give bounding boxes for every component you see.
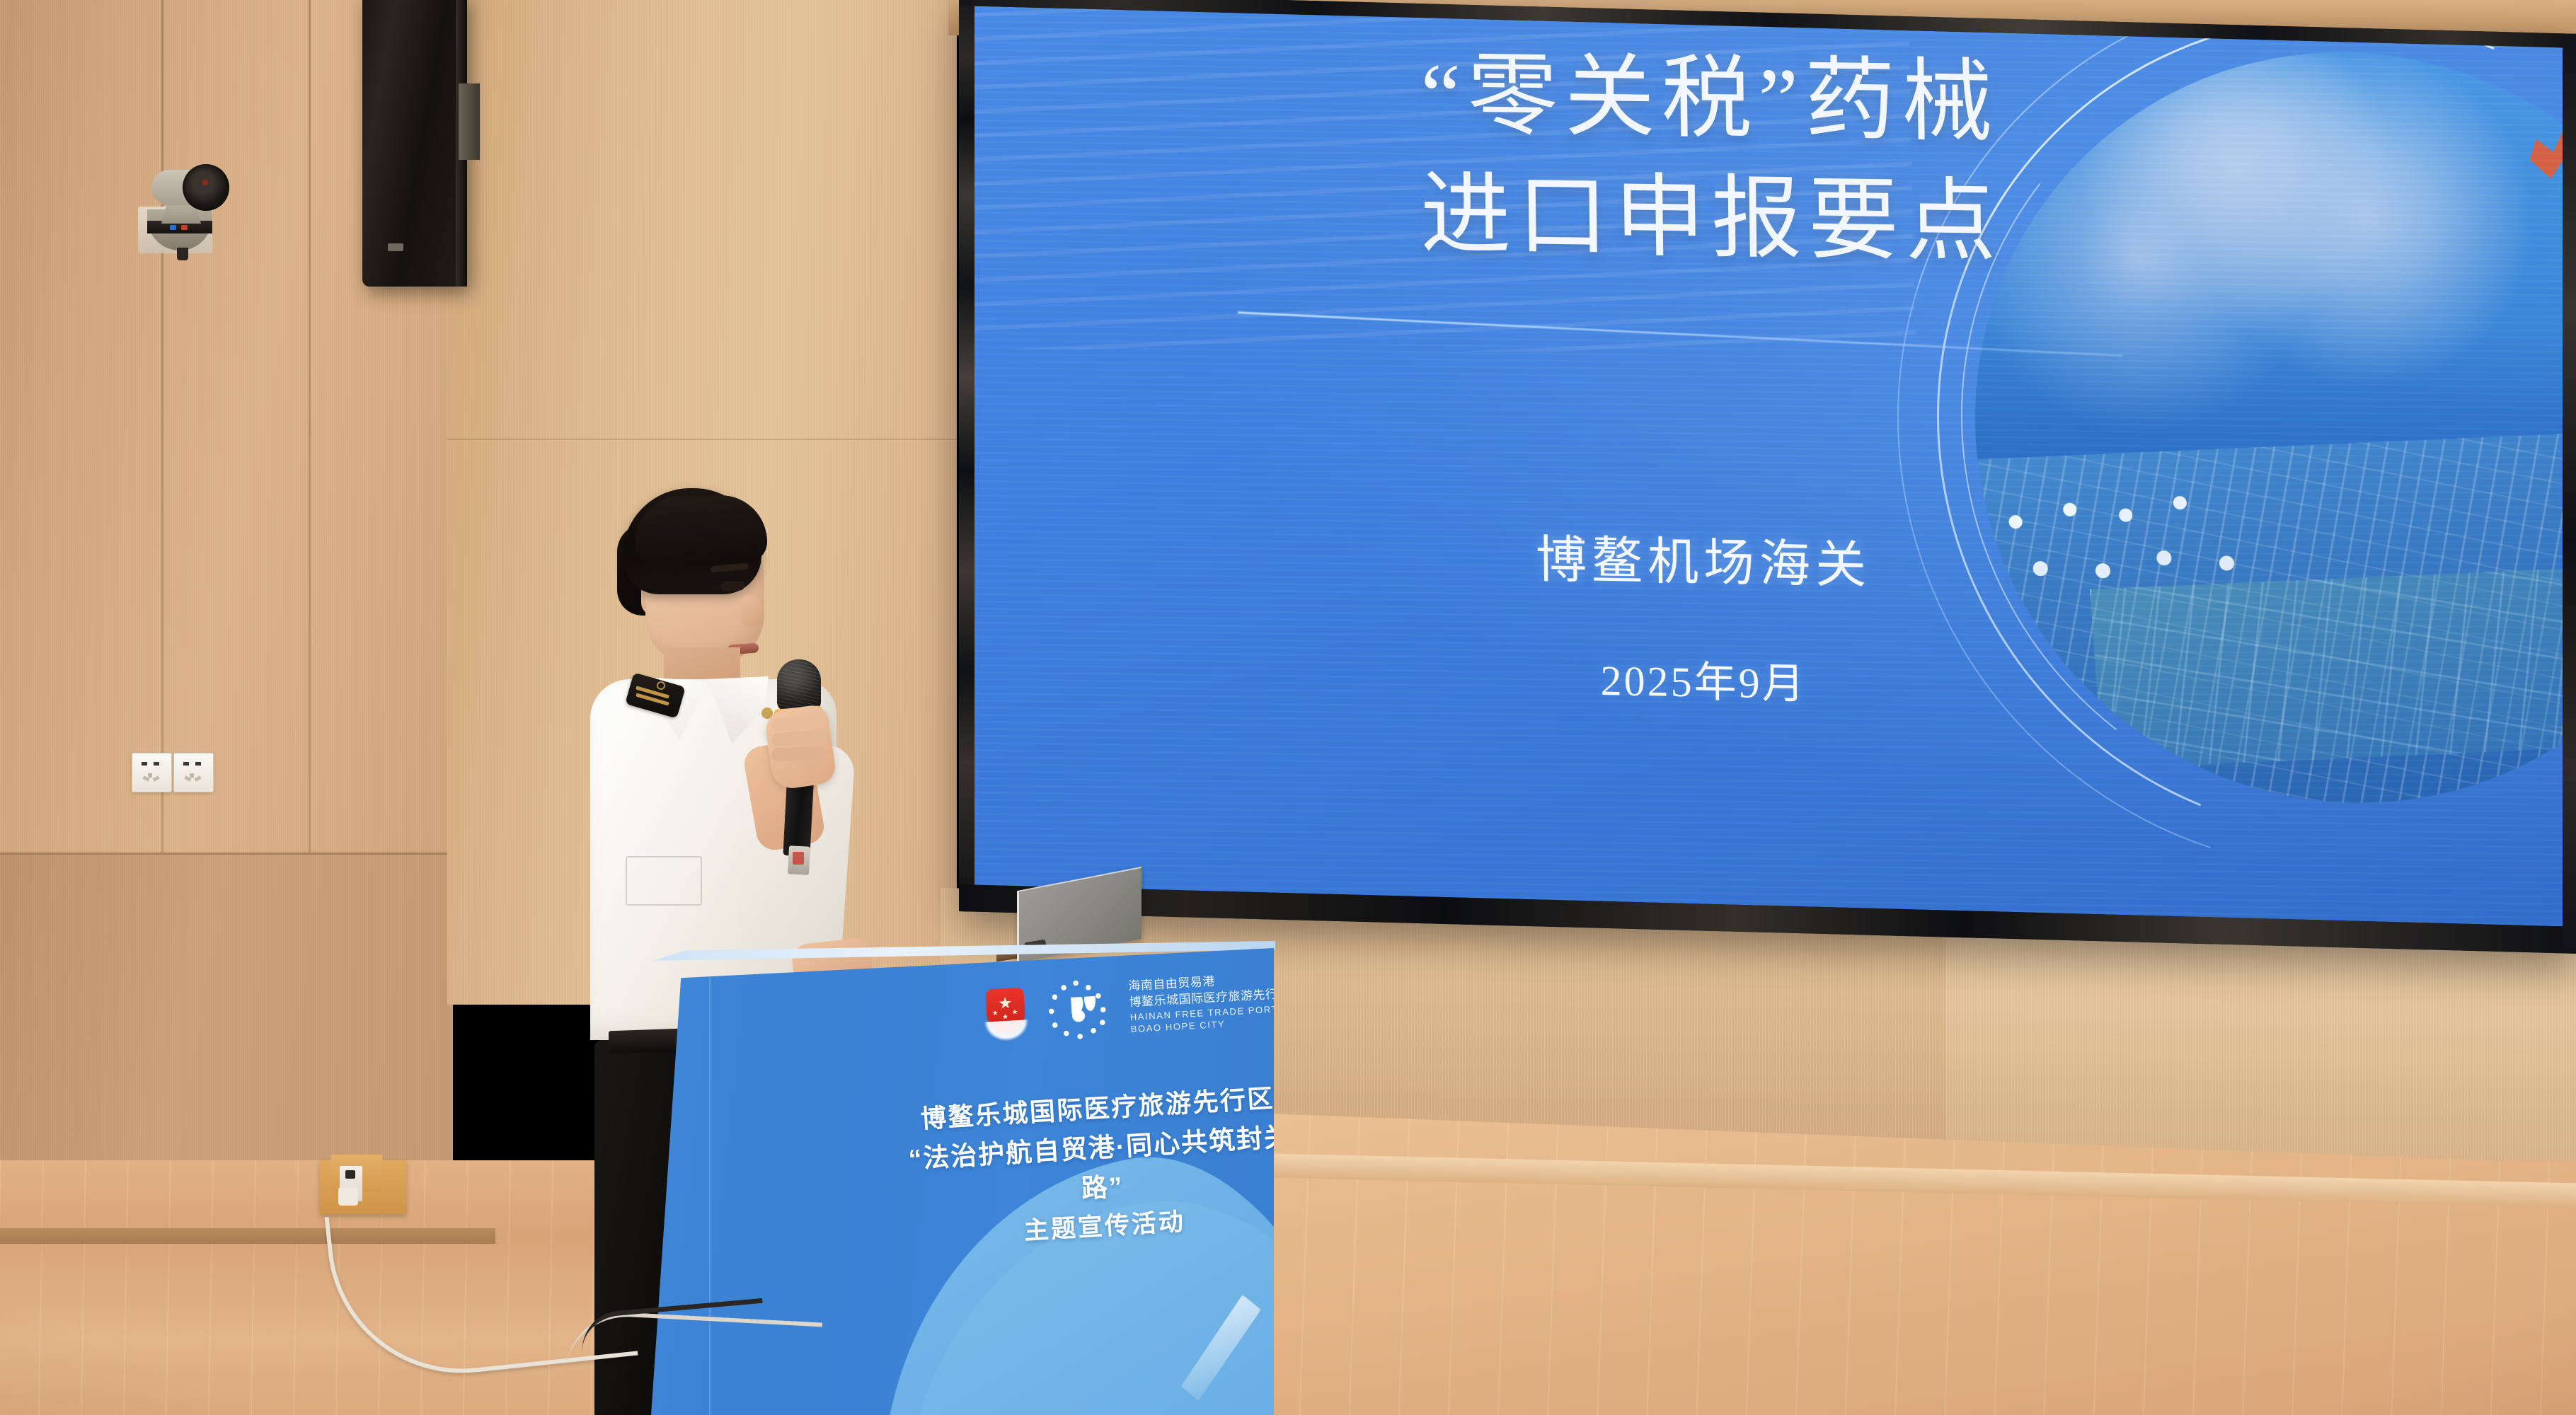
presenter-eye bbox=[720, 581, 745, 591]
camera-ir-dot-icon bbox=[202, 180, 208, 185]
emblem-wheat-icon bbox=[984, 1020, 1029, 1041]
presenter-finger bbox=[771, 746, 827, 762]
boao-hope-city-logo-icon bbox=[1043, 976, 1115, 1044]
conference-presentation-scene: “零关税”药械 进口申报要点 博鳌机场海关 2025年9月 bbox=[0, 0, 2576, 1415]
national-emblem-icon bbox=[982, 986, 1029, 1041]
led-bezel-left bbox=[959, 0, 974, 912]
wall-panel-line bbox=[447, 439, 957, 440]
loudspeaker-logo-icon bbox=[388, 243, 403, 251]
socket-pin-icon bbox=[154, 762, 159, 766]
microphone-tip-marker-icon bbox=[793, 852, 804, 865]
outlet-plug[interactable] bbox=[338, 1187, 358, 1206]
socket-ground-icon bbox=[190, 773, 194, 778]
loudspeaker-bracket bbox=[459, 83, 480, 160]
led-scanline-overlay bbox=[974, 6, 2563, 927]
wall-socket-pair[interactable] bbox=[132, 753, 214, 792]
microphone-mesh-icon bbox=[777, 659, 821, 712]
podium-slogan: 博鳌乐城国际医疗旅游先行区 “法治护航自贸港·同心共筑封关路” 主题宣传活动 bbox=[899, 1078, 1274, 1258]
socket-pin-icon bbox=[142, 762, 147, 766]
presenter-shirt-pocket bbox=[626, 856, 702, 906]
wall-socket-right[interactable] bbox=[173, 753, 214, 792]
wall-socket-left[interactable] bbox=[132, 753, 172, 792]
led-video-wall: “零关税”药械 进口申报要点 博鳌机场海关 2025年9月 bbox=[959, 0, 2576, 954]
presenter-fringe bbox=[636, 495, 767, 563]
podium-logo-strip: 海南自由贸易港 博鳌乐城国际医疗旅游先行区 HAINAN FREE TRADE … bbox=[982, 959, 1274, 1053]
logo-palm-icon bbox=[1071, 995, 1103, 1038]
boao-logo-text: 海南自由贸易港 博鳌乐城国际医疗旅游先行区 HAINAN FREE TRADE … bbox=[1128, 969, 1274, 1036]
outlet-socket-icon bbox=[345, 1170, 355, 1179]
presenter-nose bbox=[740, 596, 761, 627]
socket-ground-icon bbox=[148, 773, 152, 778]
socket-blade-icon bbox=[194, 776, 201, 782]
camera-led-red-icon bbox=[181, 225, 188, 230]
camera-led-blue-icon bbox=[170, 225, 176, 230]
wall-loudspeaker bbox=[362, 0, 467, 287]
led-bezel-right bbox=[2563, 33, 2576, 954]
presentation-slide: “零关税”药械 进口申报要点 博鳌机场海关 2025年9月 bbox=[974, 6, 2563, 927]
camera-lens-icon bbox=[183, 164, 229, 211]
socket-blade-icon bbox=[152, 776, 159, 782]
camera-stem bbox=[177, 248, 188, 260]
socket-pin-icon bbox=[195, 762, 201, 766]
socket-pin-icon bbox=[183, 762, 189, 766]
